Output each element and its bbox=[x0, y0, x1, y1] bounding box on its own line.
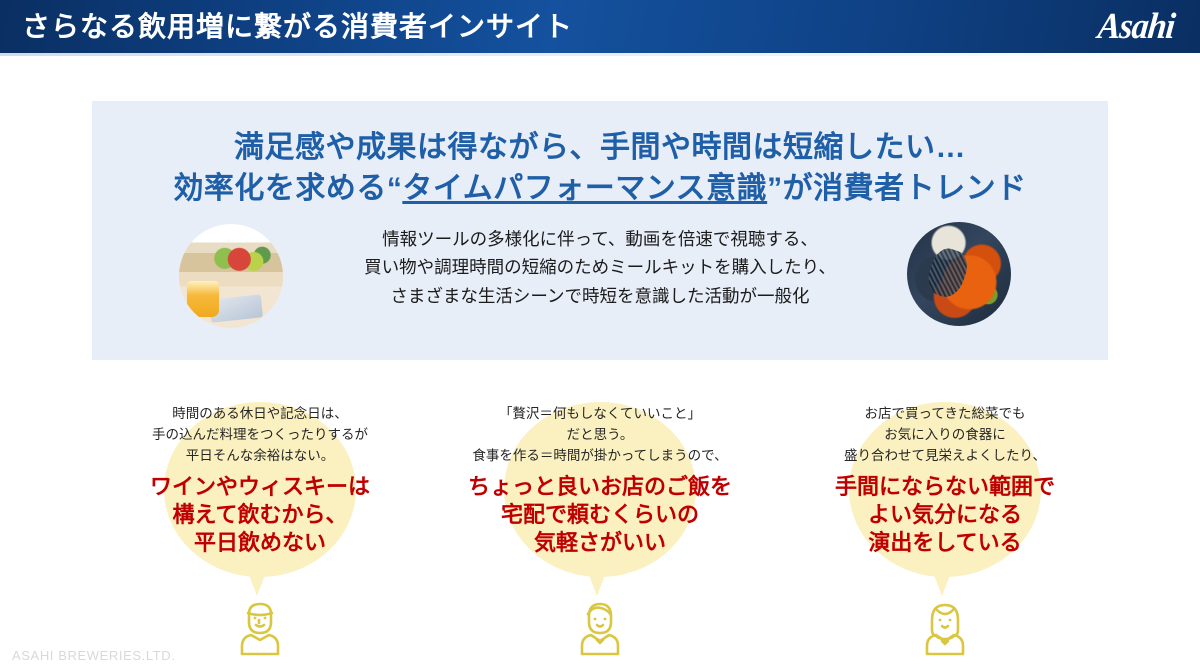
quote-big-line: 演出をしている bbox=[745, 529, 1145, 557]
speech-bubble-tail bbox=[244, 562, 270, 596]
quote-small-line: お店で買ってきた総菜でも bbox=[745, 404, 1145, 425]
speech-bubble-tail bbox=[584, 562, 610, 596]
consumer-quote-2: 「贅沢＝何もしなくていいこと」 だと思う。 食事を作る＝時間が掛かってしまうので… bbox=[400, 396, 800, 671]
quote-small-text: 「贅沢＝何もしなくていいこと」 だと思う。 食事を作る＝時間が掛かってしまうので… bbox=[400, 404, 800, 467]
quote-small-line: だと思う。 bbox=[400, 425, 800, 446]
person-bearded-man-icon bbox=[228, 596, 292, 658]
voice-of-consumer-row: 時間のある休日や記念日は、 手の込んだ料理をつくったりするが 平日そんな余裕はな… bbox=[0, 396, 1200, 671]
quote-text: お店で買ってきた総菜でも お気に入りの食器に 盛り合わせて見栄えよくしたり、 手… bbox=[745, 396, 1145, 557]
asahi-logo: Asahi bbox=[1096, 8, 1176, 45]
headline-line-2: 効率化を求める“タイムパフォーマンス意識”が消費者トレンド bbox=[92, 168, 1108, 209]
quote-small-line: お気に入りの食器に bbox=[745, 425, 1145, 446]
brand-logo: Asahi bbox=[1098, 10, 1174, 44]
header-divider bbox=[0, 53, 1200, 56]
headline-line-2-post: ”が消費者トレンド bbox=[767, 172, 1027, 205]
headline-line-2-pre: 効率化を求める“ bbox=[173, 172, 402, 205]
panel-body: 情報ツールの多様化に伴って、動画を倍速で視聴する、 買い物や調理時間の短縮のため… bbox=[92, 225, 1108, 310]
speech-bubble-tail bbox=[929, 562, 955, 596]
panel-headline: 満足感や成果は得ながら、手間や時間は短縮したい… 効率化を求める“タイムパフォー… bbox=[92, 101, 1108, 210]
quote-small-line: 食事を作る＝時間が掛かってしまうので、 bbox=[400, 446, 800, 467]
quote-small-line: 「贅沢＝何もしなくていいこと」 bbox=[400, 404, 800, 425]
quote-big-line: 気軽さがいい bbox=[400, 529, 800, 557]
insight-panel: 満足感や成果は得ながら、手間や時間は短縮したい… 効率化を求める“タイムパフォー… bbox=[92, 101, 1108, 360]
quote-small-line: 盛り合わせて見栄えよくしたり、 bbox=[745, 446, 1145, 467]
body-line-3: さまざまな生活シーンで時短を意識した活動が一般化 bbox=[364, 282, 836, 310]
page-title: さらなる飲用増に繋がる消費者インサイト bbox=[22, 13, 573, 41]
quote-highlight-text: 手間にならない範囲で よい気分になる 演出をしている bbox=[745, 473, 1145, 557]
body-line-2: 買い物や調理時間の短縮のためミールキットを購入したり、 bbox=[364, 253, 836, 281]
quote-big-line: 宅配で頼むくらいの bbox=[400, 501, 800, 529]
consumer-quote-3: お店で買ってきた総菜でも お気に入りの食器に 盛り合わせて見栄えよくしたり、 手… bbox=[745, 396, 1145, 671]
quote-big-line: ちょっと良いお店のご飯を bbox=[400, 473, 800, 501]
quote-highlight-text: ちょっと良いお店のご飯を 宅配で頼むくらいの 気軽さがいい bbox=[400, 473, 800, 557]
person-bob-hair-woman-icon bbox=[913, 596, 977, 658]
copyright-footer: ASAHI BREWERIES.LTD. bbox=[12, 648, 175, 663]
quote-big-line: よい気分になる bbox=[745, 501, 1145, 529]
panel-body-text: 情報ツールの多様化に伴って、動画を倍速で視聴する、 買い物や調理時間の短縮のため… bbox=[364, 225, 836, 310]
headline-line-1: 満足感や成果は得ながら、手間や時間は短縮したい… bbox=[92, 127, 1108, 168]
quote-text: 「贅沢＝何もしなくていいこと」 だと思う。 食事を作る＝時間が掛かってしまうので… bbox=[400, 396, 800, 557]
page-header: さらなる飲用増に繋がる消費者インサイト Asahi bbox=[0, 0, 1200, 53]
person-styled-hair-icon bbox=[568, 596, 632, 658]
quote-small-text: お店で買ってきた総菜でも お気に入りの食器に 盛り合わせて見栄えよくしたり、 bbox=[745, 404, 1145, 467]
body-line-1: 情報ツールの多様化に伴って、動画を倍速で視聴する、 bbox=[364, 225, 836, 253]
headline-keyword: タイムパフォーマンス意識 bbox=[402, 172, 767, 205]
quote-big-line: 手間にならない範囲で bbox=[745, 473, 1145, 501]
